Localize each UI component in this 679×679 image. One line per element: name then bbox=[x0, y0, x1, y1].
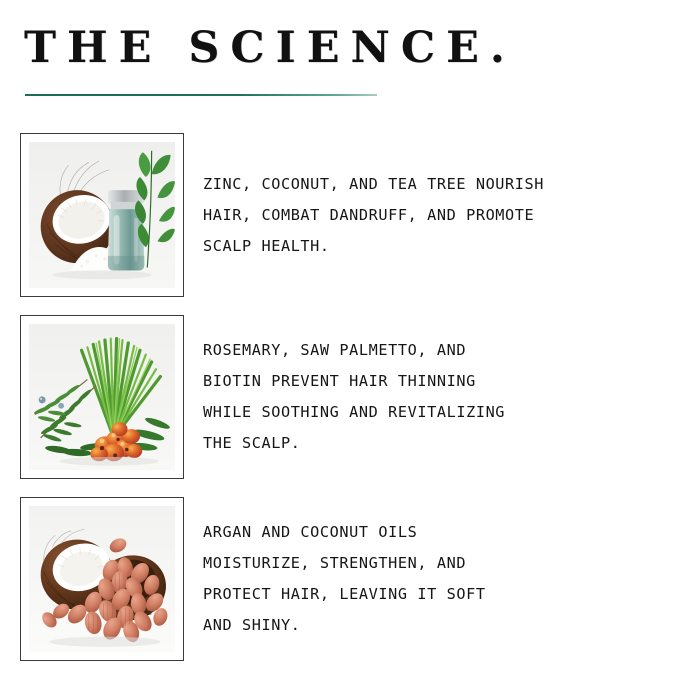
infographic-page: THE SCIENCE. bbox=[0, 0, 679, 679]
science-rows: ZINC, COCONUT, AND TEA TREE NOURISH HAIR… bbox=[0, 133, 679, 661]
page-title: THE SCIENCE. bbox=[24, 24, 654, 72]
header: THE SCIENCE. bbox=[24, 24, 654, 72]
science-row-text: ROSEMARY, SAW PALMETTO, AND BIOTIN PREVE… bbox=[203, 335, 679, 459]
coconut-tea-tree-zinc-bottle-image bbox=[29, 142, 175, 288]
science-row: ROSEMARY, SAW PALMETTO, AND BIOTIN PREVE… bbox=[0, 315, 679, 479]
title-divider bbox=[25, 94, 377, 96]
science-row: ZINC, COCONUT, AND TEA TREE NOURISH HAIR… bbox=[0, 133, 679, 297]
image-frame bbox=[20, 315, 184, 479]
science-row-text: ZINC, COCONUT, AND TEA TREE NOURISH HAIR… bbox=[203, 169, 679, 262]
image-frame bbox=[20, 133, 184, 297]
argan-coconut-oil-nuts-image bbox=[29, 506, 175, 652]
science-row: ARGAN AND COCONUT OILS MOISTURIZE, STREN… bbox=[0, 497, 679, 661]
science-row-text: ARGAN AND COCONUT OILS MOISTURIZE, STREN… bbox=[203, 517, 679, 641]
rosemary-saw-palmetto-berries-image bbox=[29, 324, 175, 470]
image-frame bbox=[20, 497, 184, 661]
